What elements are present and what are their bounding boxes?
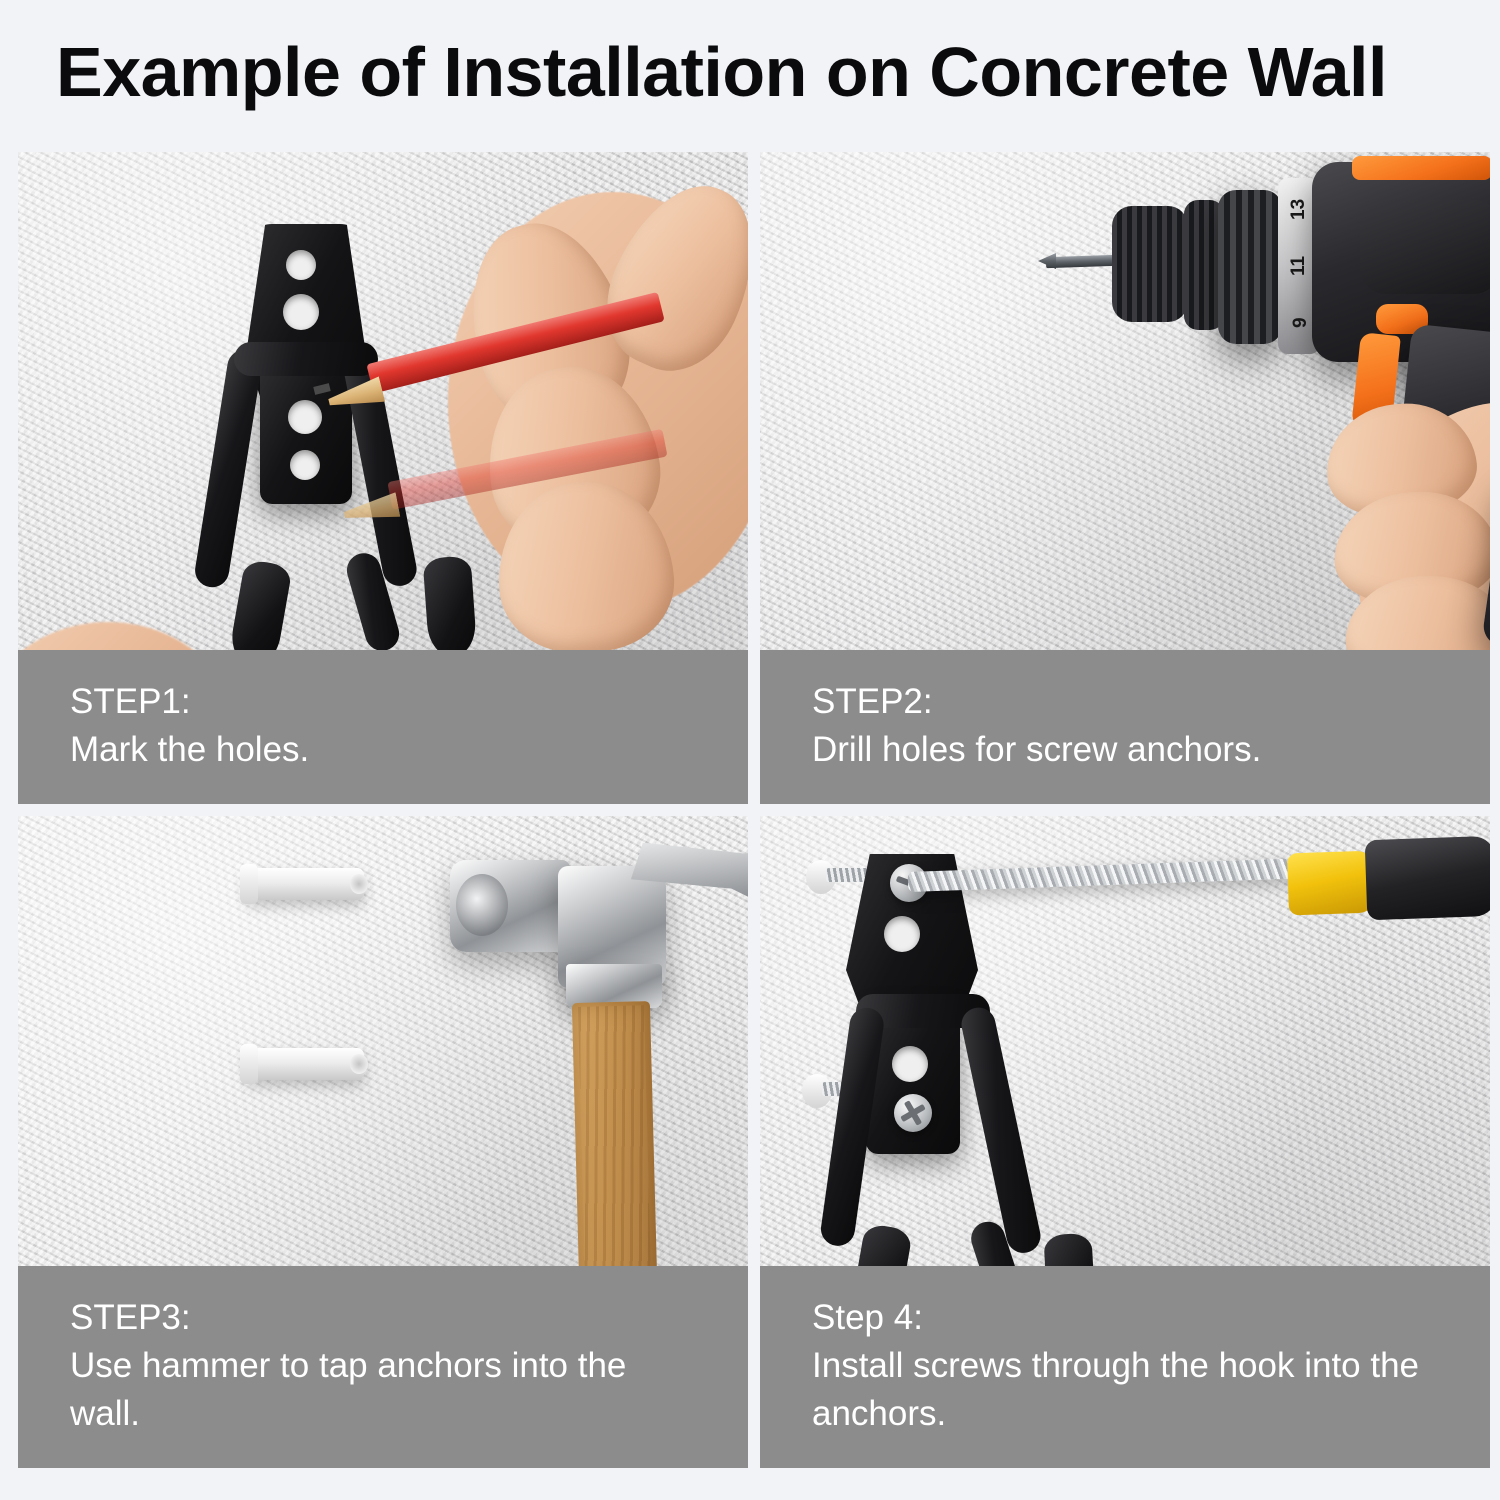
wall-anchor-top [246,868,364,900]
step-panel-3: STEP3: Use hammer to tap anchors into th… [18,816,748,1468]
screwdriver-handle-yellow [1287,851,1375,916]
drill-body-inset-panel [1360,200,1490,294]
screwdriver-shaft [908,858,1300,892]
mounting-hole-top [286,250,316,280]
step-4-caption: Step 4: Install screws through the hook … [760,1266,1490,1468]
drill-gearcase [1218,190,1282,344]
step-1-label: STEP1: [70,678,696,726]
drill-clutch-number-9: 9 [1290,298,1312,328]
mounting-hole-third [288,400,322,434]
drill-clutch-number-11: 11 [1288,246,1310,276]
hook-arm-right [958,1004,1043,1256]
step-2-text: Drill holes for screw anchors. [812,726,1438,774]
mounting-hole-bottom [290,450,320,480]
hook-crossbar [234,342,378,376]
wall-anchor-top-bore [350,874,368,894]
wall-anchor-bottom-flange [240,1044,258,1084]
page-title: Example of Installation on Concrete Wall [56,34,1456,110]
wall-anchor-top-flange [240,864,258,904]
mounting-hole-third [892,1046,928,1082]
step-3-caption: STEP3: Use hammer to tap anchors into th… [18,1266,748,1468]
drill-chuck [1112,206,1188,322]
step-2-label: STEP2: [812,678,1438,726]
step-3-text: Use hammer to tap anchors into the wall. [70,1342,696,1438]
step-4-text: Install screws through the hook into the… [812,1342,1438,1438]
step-panel-4: Step 4: Install screws through the hook … [760,816,1490,1468]
step-4-label: Step 4: [812,1294,1438,1342]
drill-clutch-number-13: 13 [1288,190,1310,220]
step-panel-1: STEP1: Mark the holes. [18,152,748,804]
steps-grid: STEP1: Mark the holes. 13 11 9 [18,152,1482,1468]
mounting-hole-second [884,916,920,952]
wall-anchor-bottom [246,1048,364,1080]
hammer-face-strike [456,874,508,936]
installation-infographic: Example of Installation on Concrete Wall [0,0,1500,1500]
screwdriver-handle-black [1365,836,1490,920]
step-panel-2: 13 11 9 STEP2: D [760,152,1490,804]
hook-tip-right [423,555,478,658]
hook-arm-left [193,347,264,589]
step-3-label: STEP3: [70,1294,696,1342]
drill-bit [1046,255,1116,268]
step-1-text: Mark the holes. [70,726,696,774]
mounting-hole-second [283,294,319,330]
step-2-caption: STEP2: Drill holes for screw anchors. [760,650,1490,804]
drill-top-accent [1352,156,1490,180]
wall-anchor-bottom-bore [350,1054,368,1074]
step-1-caption: STEP1: Mark the holes. [18,650,748,804]
hook-bracket-lower-plate [260,364,352,504]
